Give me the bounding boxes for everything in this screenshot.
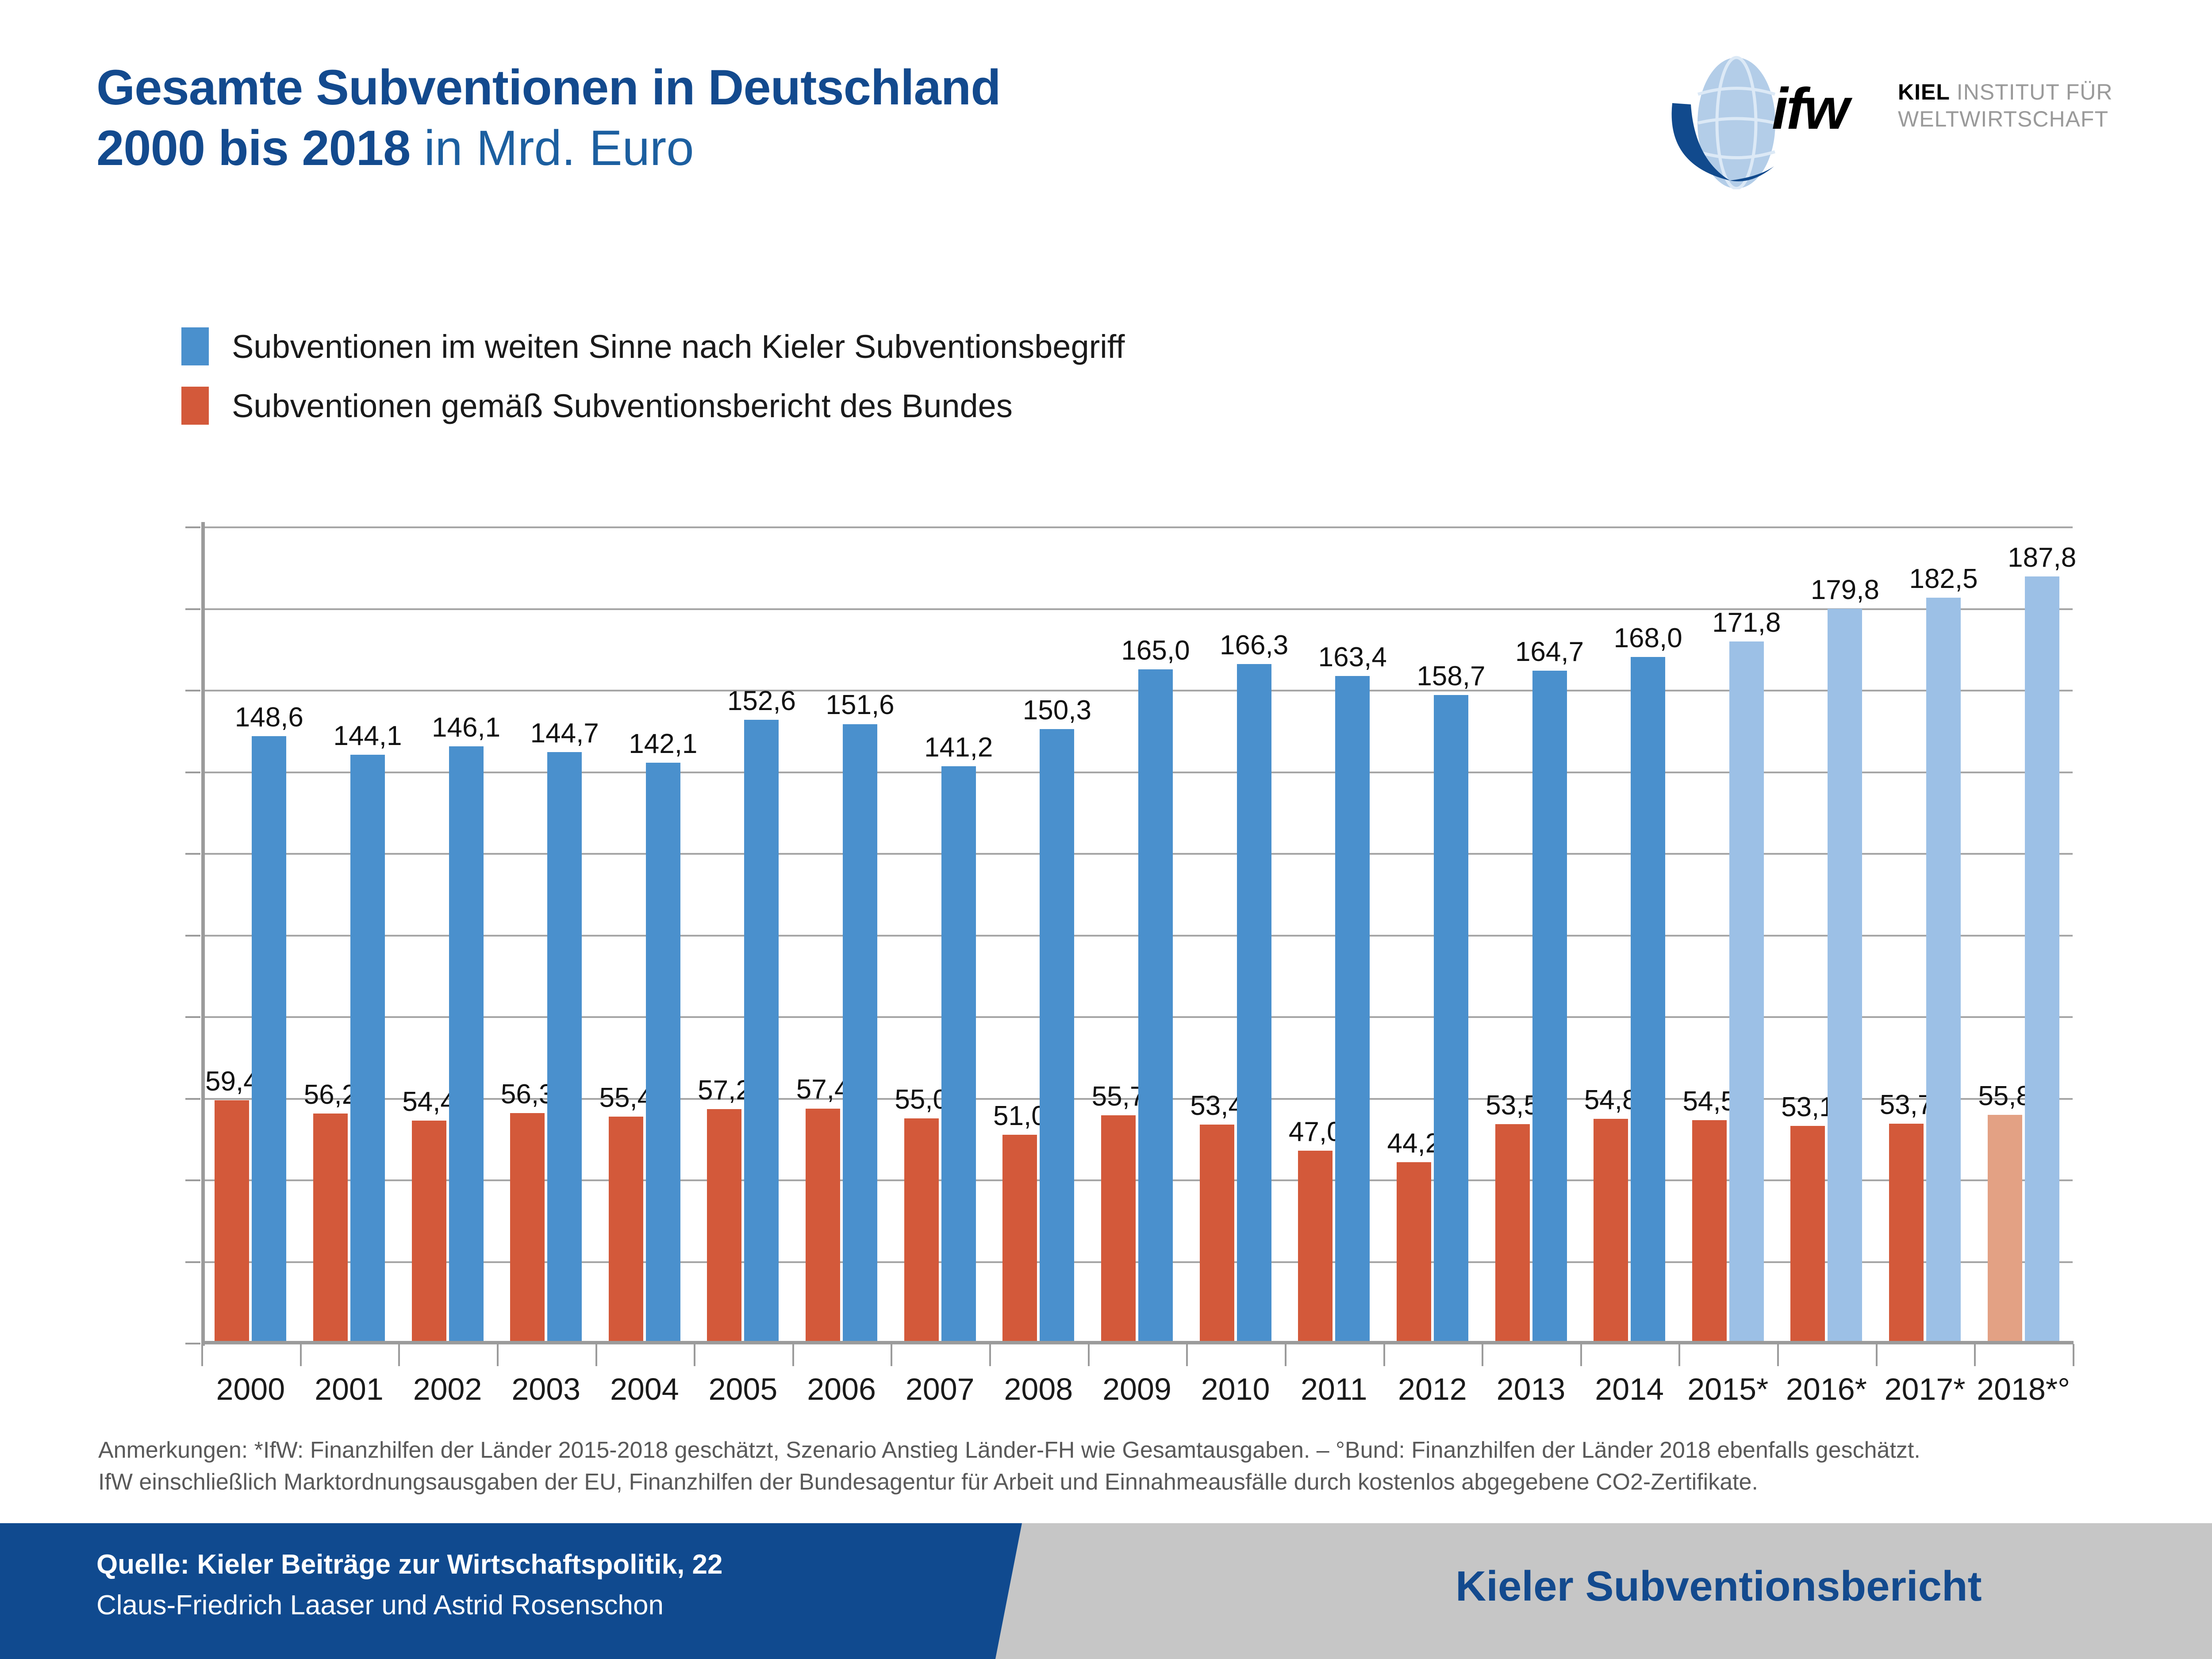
bar-red-2004 bbox=[609, 1117, 643, 1343]
data-label-blue: 171,8 bbox=[1703, 607, 1790, 638]
data-label-blue: 179,8 bbox=[1801, 574, 1889, 606]
x-tick-mark bbox=[989, 1344, 991, 1366]
x-axis-label-2013: 2013 bbox=[1482, 1371, 1580, 1407]
data-label-blue: 146,1 bbox=[422, 712, 510, 743]
y-tick-mark bbox=[185, 1343, 200, 1344]
x-tick-mark bbox=[1482, 1344, 1483, 1366]
bar-blue-2002 bbox=[449, 746, 484, 1343]
x-axis-label-2009: 2009 bbox=[1088, 1371, 1187, 1407]
bar-red-2016 bbox=[1790, 1126, 1825, 1343]
data-label-blue: 163,4 bbox=[1309, 641, 1396, 673]
x-tick-mark bbox=[1580, 1344, 1582, 1366]
footer: Quelle: Kieler Beiträge zur Wirtschaftsp… bbox=[0, 1523, 2212, 1659]
data-label-blue: 144,1 bbox=[324, 720, 411, 752]
x-axis-label-2002: 2002 bbox=[398, 1371, 497, 1407]
y-tick-mark bbox=[185, 690, 200, 691]
x-tick-mark bbox=[300, 1344, 302, 1366]
data-label-blue: 142,1 bbox=[619, 728, 707, 760]
x-tick-mark bbox=[694, 1344, 695, 1366]
bar-red-2009 bbox=[1101, 1115, 1136, 1343]
data-label-blue: 158,7 bbox=[1407, 661, 1495, 692]
bar-red-2014 bbox=[1594, 1119, 1628, 1343]
x-axis-label-2014: 2014 bbox=[1580, 1371, 1679, 1407]
x-axis-label-2015: 2015* bbox=[1678, 1371, 1777, 1407]
bar-blue-2016 bbox=[1828, 609, 1862, 1343]
data-label-blue: 152,6 bbox=[718, 685, 805, 717]
y-tick-mark bbox=[185, 1179, 200, 1181]
data-label-blue: 151,6 bbox=[816, 689, 904, 721]
bar-blue-2006 bbox=[843, 724, 877, 1343]
x-tick-mark bbox=[1088, 1344, 1090, 1366]
data-label-blue: 144,7 bbox=[521, 718, 608, 749]
x-tick-mark bbox=[1974, 1344, 1976, 1366]
footer-brand: Kieler Subventionsbericht bbox=[1455, 1562, 1982, 1611]
y-tick-mark bbox=[185, 772, 200, 773]
x-axis-label-2016: 2016* bbox=[1777, 1371, 1876, 1407]
y-tick-mark bbox=[185, 1016, 200, 1018]
x-axis-label-2017: 2017* bbox=[1876, 1371, 1974, 1407]
bar-red-2008 bbox=[1002, 1135, 1037, 1343]
data-label-blue: 148,6 bbox=[225, 702, 313, 733]
x-tick-mark bbox=[1186, 1344, 1188, 1366]
x-tick-mark bbox=[2073, 1344, 2074, 1366]
y-tick-mark bbox=[185, 1098, 200, 1100]
bar-red-2017 bbox=[1889, 1124, 1924, 1343]
x-tick-mark bbox=[1678, 1344, 1680, 1366]
bars-container: 59,4148,656,2144,154,4146,156,3144,755,4… bbox=[201, 526, 2073, 1343]
bar-red-2003 bbox=[510, 1113, 545, 1343]
x-axis-label-2018: 2018*° bbox=[1974, 1371, 2073, 1407]
x-tick-mark bbox=[891, 1344, 892, 1366]
bar-red-2005 bbox=[707, 1109, 741, 1343]
bar-blue-2013 bbox=[1532, 671, 1567, 1343]
x-axis-label-2011: 2011 bbox=[1285, 1371, 1383, 1407]
data-label-blue: 187,8 bbox=[1998, 542, 2086, 573]
x-axis-label-2005: 2005 bbox=[694, 1371, 792, 1407]
bar-blue-2008 bbox=[1040, 729, 1074, 1343]
bar-blue-2018 bbox=[2025, 576, 2059, 1343]
footer-authors: Claus-Friedrich Laaser und Astrid Rosens… bbox=[96, 1590, 664, 1621]
bar-red-2001 bbox=[313, 1114, 348, 1343]
data-label-blue: 141,2 bbox=[915, 732, 1002, 763]
data-label-blue: 165,0 bbox=[1112, 635, 1199, 666]
x-axis-label-2004: 2004 bbox=[595, 1371, 694, 1407]
x-axis-label-2007: 2007 bbox=[891, 1371, 989, 1407]
bar-blue-2017 bbox=[1926, 598, 1961, 1343]
bar-red-2018 bbox=[1988, 1115, 2022, 1343]
bar-blue-2009 bbox=[1138, 669, 1173, 1343]
y-tick-mark bbox=[185, 853, 200, 855]
x-axis-label-2000: 2000 bbox=[201, 1371, 300, 1407]
chart-notes: Anmerkungen: *IfW: Finanzhilfen der Länd… bbox=[98, 1435, 2133, 1498]
x-tick-mark bbox=[595, 1344, 597, 1366]
bar-chart: 200,0180,0160,0140,0120,0100,080,060,040… bbox=[0, 0, 2212, 1659]
data-label-blue: 164,7 bbox=[1506, 636, 1594, 668]
bar-blue-2010 bbox=[1237, 664, 1271, 1343]
x-tick-mark bbox=[201, 1344, 203, 1366]
bar-blue-2005 bbox=[744, 720, 779, 1343]
x-axis-line bbox=[201, 1341, 2074, 1344]
y-tick-mark bbox=[185, 608, 200, 610]
x-axis-label-2012: 2012 bbox=[1383, 1371, 1482, 1407]
x-axis-label-2010: 2010 bbox=[1186, 1371, 1285, 1407]
note-line-1: Anmerkungen: *IfW: Finanzhilfen der Länd… bbox=[98, 1435, 2133, 1467]
bar-red-2013 bbox=[1495, 1124, 1530, 1343]
data-label-blue: 150,3 bbox=[1013, 695, 1101, 726]
x-tick-mark bbox=[1285, 1344, 1286, 1366]
x-tick-mark bbox=[792, 1344, 794, 1366]
bar-blue-2001 bbox=[350, 755, 385, 1343]
y-tick-mark bbox=[185, 1261, 200, 1263]
x-tick-mark bbox=[497, 1344, 499, 1366]
bar-blue-2012 bbox=[1434, 695, 1468, 1343]
y-tick-mark bbox=[185, 526, 200, 528]
data-label-blue: 182,5 bbox=[1900, 563, 1987, 595]
bar-blue-2004 bbox=[646, 763, 680, 1343]
x-axis-label-2006: 2006 bbox=[792, 1371, 891, 1407]
footer-source: Quelle: Kieler Beiträge zur Wirtschaftsp… bbox=[96, 1549, 723, 1580]
bar-red-2015 bbox=[1692, 1120, 1727, 1343]
bar-blue-2007 bbox=[941, 766, 976, 1343]
x-tick-mark bbox=[1777, 1344, 1779, 1366]
x-tick-mark bbox=[398, 1344, 400, 1366]
bar-red-2007 bbox=[904, 1118, 939, 1343]
x-axis-label-2001: 2001 bbox=[300, 1371, 399, 1407]
bar-blue-2015 bbox=[1729, 641, 1764, 1343]
bar-red-2011 bbox=[1298, 1151, 1333, 1343]
x-axis-label-2003: 2003 bbox=[497, 1371, 595, 1407]
bar-blue-2000 bbox=[252, 736, 286, 1343]
y-tick-mark bbox=[185, 935, 200, 937]
y-axis-labels: 200,0180,0160,0140,0120,0100,080,060,040… bbox=[0, 0, 170, 1659]
bar-blue-2014 bbox=[1631, 657, 1665, 1343]
bar-blue-2003 bbox=[547, 752, 582, 1343]
bar-red-2012 bbox=[1397, 1162, 1431, 1343]
data-label-blue: 166,3 bbox=[1210, 630, 1298, 661]
x-tick-mark bbox=[1383, 1344, 1385, 1366]
x-axis-label-2008: 2008 bbox=[989, 1371, 1088, 1407]
bar-red-2000 bbox=[215, 1100, 249, 1343]
data-label-blue: 168,0 bbox=[1604, 622, 1692, 654]
bar-red-2010 bbox=[1200, 1125, 1234, 1343]
bar-blue-2011 bbox=[1335, 676, 1370, 1343]
x-tick-mark bbox=[1876, 1344, 1878, 1366]
note-line-2: IfW einschließlich Marktordnungsausgaben… bbox=[98, 1467, 2133, 1498]
bar-red-2006 bbox=[806, 1109, 840, 1343]
bar-red-2002 bbox=[412, 1121, 446, 1343]
